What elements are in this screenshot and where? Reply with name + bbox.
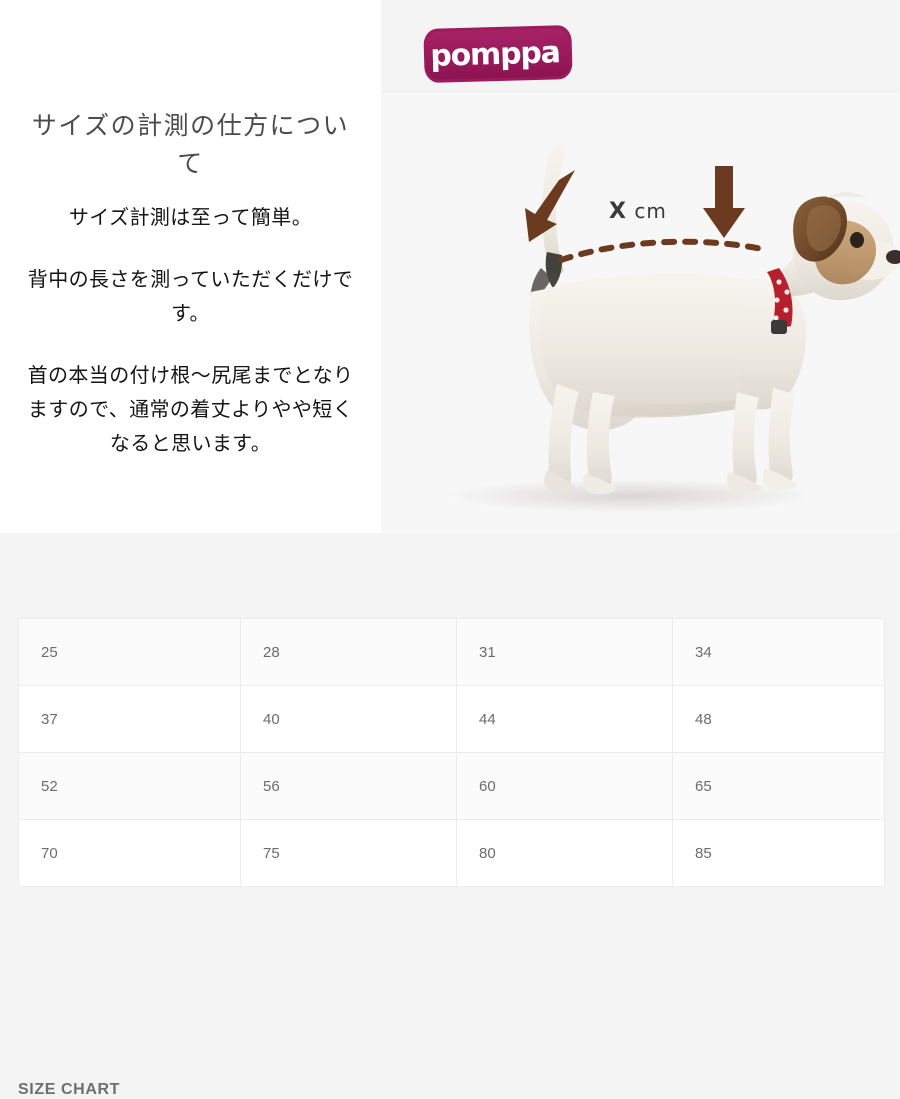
table-row: 70 75 80 85 <box>19 820 885 887</box>
measurement-value: X <box>609 199 627 224</box>
measurement-unit: cm <box>634 199 666 223</box>
page-title: サイズの計測の仕方について <box>0 107 381 183</box>
size-cell: 25 <box>19 619 241 686</box>
table-row: 52 56 60 65 <box>19 753 885 820</box>
size-cell: 34 <box>673 619 885 686</box>
size-cell: 52 <box>19 753 241 820</box>
info-paragraph-3: 首の本当の付け根〜尻尾までとなりますので、通常の着丈よりやや短くなると思います。 <box>22 358 359 460</box>
dog-illustration <box>381 92 900 533</box>
size-cell: 75 <box>241 820 457 887</box>
size-cell: 48 <box>673 686 885 753</box>
size-cell: 70 <box>19 820 241 887</box>
top-section: pomppa ® サイズの計測の仕方について サイズ計測は至って簡単。 背中の長… <box>0 0 900 533</box>
info-paragraph-2: 背中の長さを測っていただくだけです。 <box>22 262 359 330</box>
size-cell: 60 <box>457 753 673 820</box>
registered-trademark-icon: ® <box>551 44 558 54</box>
size-cell: 56 <box>241 753 457 820</box>
table-row: 25 28 31 34 <box>19 619 885 686</box>
dog-eye <box>850 232 864 248</box>
size-chart-table: 25 28 31 34 37 40 44 48 52 56 60 65 70 7… <box>18 618 885 887</box>
size-cell: 31 <box>457 619 673 686</box>
size-chart-body: 25 28 31 34 37 40 44 48 52 56 60 65 70 7… <box>19 619 885 887</box>
info-panel: サイズの計測の仕方について サイズ計測は至って簡単。 背中の長さを測っていただく… <box>0 0 381 533</box>
size-cell: 28 <box>241 619 457 686</box>
table-row: 37 40 44 48 <box>19 686 885 753</box>
size-cell: 85 <box>673 820 885 887</box>
size-chart-header-bar: SIZE CHART <box>0 533 900 613</box>
size-cell: 37 <box>19 686 241 753</box>
size-cell: 80 <box>457 820 673 887</box>
measurement-label: X cm <box>609 199 667 224</box>
info-body: サイズ計測は至って簡単。 背中の長さを測っていただくだけです。 首の本当の付け根… <box>0 200 381 460</box>
size-cell: 44 <box>457 686 673 753</box>
size-cell: 65 <box>673 753 885 820</box>
dog-photo-panel <box>381 91 900 533</box>
info-paragraph-1: サイズ計測は至って簡単。 <box>22 200 359 234</box>
size-chart-title: SIZE CHART <box>18 1081 120 1099</box>
brand-logo: pomppa ® <box>424 27 572 81</box>
size-cell: 40 <box>241 686 457 753</box>
